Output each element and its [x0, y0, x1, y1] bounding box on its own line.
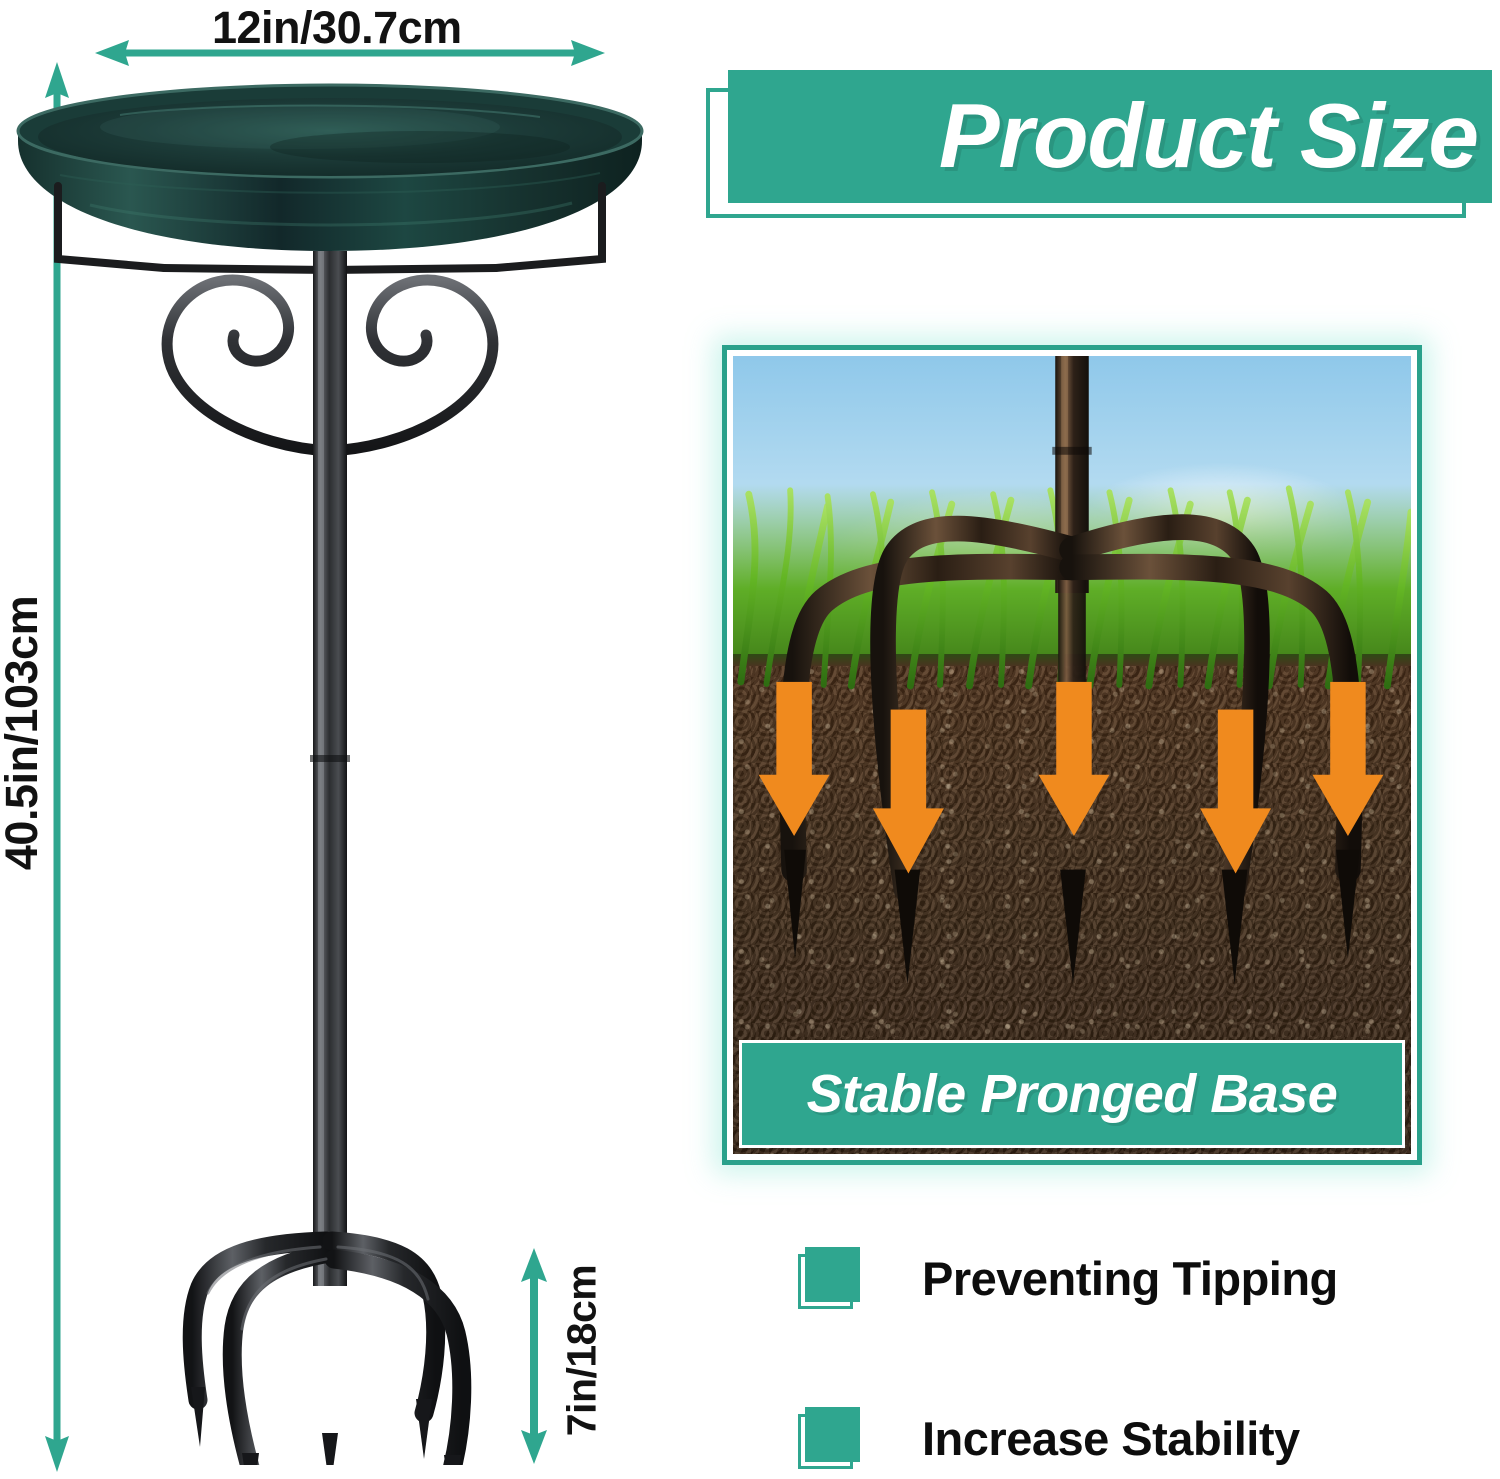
feature-label: Increase Stability [922, 1411, 1300, 1466]
product-dimension-panel: 12in/30.7cm 40.5in/103cm 7in/18cm [0, 0, 660, 1479]
prong-penetration-diagram [733, 356, 1411, 1154]
banner-fill: Product Size [728, 70, 1492, 203]
list-item: Preventing Tipping [798, 1222, 1458, 1334]
photo-caption-text: Stable Pronged Base [807, 1063, 1338, 1125]
photo-caption-bar: Stable Pronged Base [739, 1040, 1405, 1148]
teal-square-bullet-icon [798, 1247, 860, 1309]
photo-scene: Stable Pronged Base [733, 356, 1411, 1154]
pronged-base-photo-panel: Stable Pronged Base [722, 345, 1422, 1165]
feature-label: Preventing Tipping [922, 1251, 1338, 1306]
page-title: Product Size [939, 91, 1478, 182]
bullet-fill-shape [805, 1247, 860, 1302]
product-size-banner: Product Size [706, 70, 1492, 220]
infographic-canvas: 12in/30.7cm 40.5in/103cm 7in/18cm [0, 0, 1500, 1479]
bird-bath-stand-illustration [0, 55, 660, 1465]
teal-square-bullet-icon [798, 1407, 860, 1469]
feature-list: Preventing Tipping Increase Stability [798, 1222, 1458, 1479]
list-item: Increase Stability [798, 1382, 1458, 1479]
bullet-fill-shape [805, 1407, 860, 1462]
